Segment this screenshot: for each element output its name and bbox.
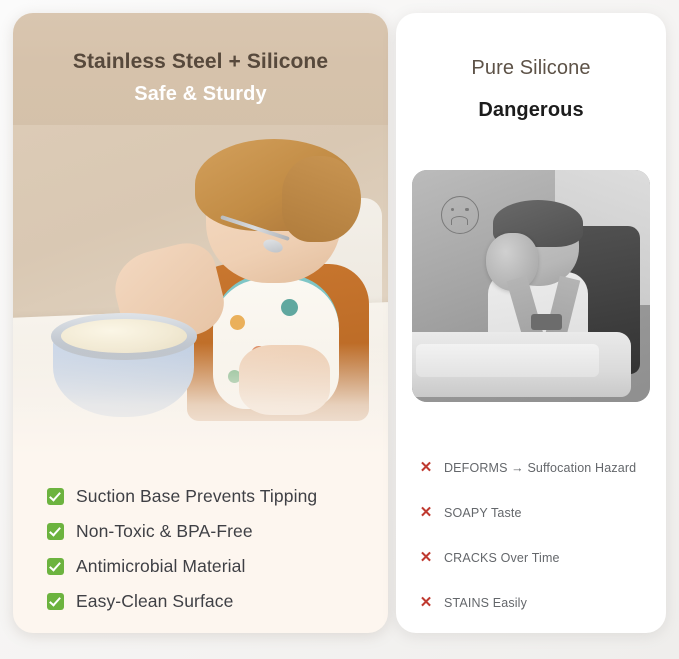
bad-card-subtitle: Dangerous xyxy=(396,99,666,122)
bad-product-photo xyxy=(412,170,650,402)
benefit-label: Antimicrobial Material xyxy=(76,556,245,577)
photo-fade-overlay xyxy=(13,343,388,455)
drawback-label: CRACKS Over Time xyxy=(444,551,560,565)
tray-inner-surface xyxy=(416,344,599,376)
bad-card-header: Pure Silicone Dangerous xyxy=(396,13,666,122)
list-item: Non-Toxic & BPA-Free xyxy=(47,514,377,549)
toddler-hair-side xyxy=(282,156,360,243)
list-item: Suction Base Prevents Tipping xyxy=(47,479,377,514)
benefit-label: Non-Toxic & BPA-Free xyxy=(76,521,253,542)
benefits-list: Suction Base Prevents Tipping Non-Toxic … xyxy=(47,479,377,619)
comparison-infographic: Stainless Steel + Silicone Safe & Sturdy xyxy=(0,0,679,659)
sad-face-eye-right xyxy=(465,208,468,211)
check-icon xyxy=(47,593,64,610)
high-chair-tray xyxy=(412,332,631,397)
sad-face-icon xyxy=(441,196,479,234)
drawback-label: STAINS Easily xyxy=(444,596,527,610)
check-icon xyxy=(47,558,64,575)
good-product-card: Stainless Steel + Silicone Safe & Sturdy xyxy=(13,13,388,633)
list-item: ✕ DEFORMS → Suffocation Hazard xyxy=(419,445,663,490)
list-item: ✕ CRACKS Over Time xyxy=(419,535,663,580)
list-item: ✕ SOAPY Taste xyxy=(419,490,663,535)
bad-product-card: Pure Silicone Dangerous xyxy=(396,13,666,633)
good-card-subtitle: Safe & Sturdy xyxy=(13,83,388,106)
list-item: Easy-Clean Surface xyxy=(47,584,377,619)
list-item: ✕ STAINS Easily xyxy=(419,580,663,625)
x-icon: ✕ xyxy=(419,595,433,610)
sad-face-mouth xyxy=(451,216,468,225)
bib-pattern-dot xyxy=(230,315,245,330)
x-icon: ✕ xyxy=(419,460,433,475)
drawback-label: DEFORMS → Suffocation Hazard xyxy=(444,461,636,475)
x-icon: ✕ xyxy=(419,505,433,520)
benefit-label: Easy-Clean Surface xyxy=(76,591,233,612)
benefit-label: Suction Base Prevents Tipping xyxy=(76,486,317,507)
bib-pattern-dot xyxy=(281,299,298,316)
bad-card-title: Pure Silicone xyxy=(396,57,666,80)
harness-buckle xyxy=(531,314,562,330)
drawbacks-list: ✕ DEFORMS → Suffocation Hazard ✕ SOAPY T… xyxy=(419,445,663,625)
check-icon xyxy=(47,523,64,540)
sad-face-eye-left xyxy=(451,208,454,211)
check-icon xyxy=(47,488,64,505)
good-card-title: Stainless Steel + Silicone xyxy=(13,49,388,75)
list-item: Antimicrobial Material xyxy=(47,549,377,584)
drawback-label: SOAPY Taste xyxy=(444,506,522,520)
good-product-photo xyxy=(13,125,388,455)
good-card-header: Stainless Steel + Silicone Safe & Sturdy xyxy=(13,13,388,143)
x-icon: ✕ xyxy=(419,550,433,565)
